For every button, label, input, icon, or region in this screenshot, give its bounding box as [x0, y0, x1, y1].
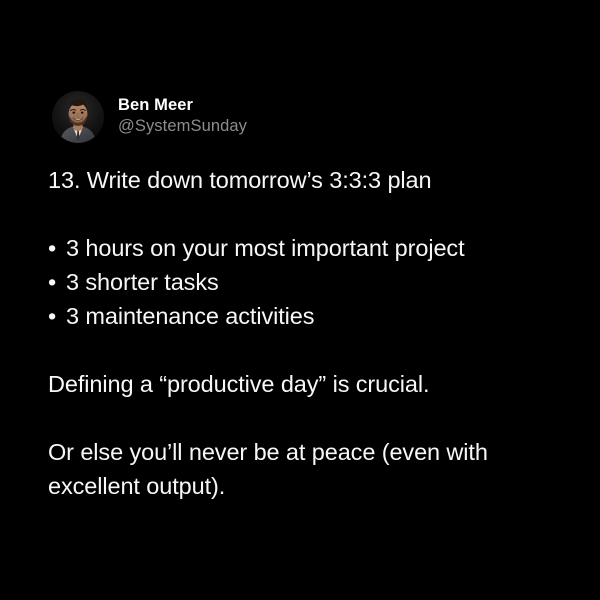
- author-block: Ben Meer @SystemSunday: [118, 97, 247, 137]
- spacer: [48, 401, 568, 435]
- list-item: • 3 hours on your most important project: [48, 231, 568, 265]
- spacer: [48, 333, 568, 367]
- avatar[interactable]: [52, 91, 104, 143]
- list-item-label: 3 shorter tasks: [66, 265, 568, 299]
- tweet-card: Ben Meer @SystemSunday 13. Write down to…: [0, 0, 600, 600]
- tweet-paragraph-2: Or else you’ll never be at peace (even w…: [48, 435, 568, 503]
- bullet-icon: •: [48, 265, 66, 299]
- bullet-icon: •: [48, 299, 66, 333]
- avatar-photo-icon: [52, 91, 104, 143]
- list-item-label: 3 hours on your most important project: [66, 231, 568, 265]
- tweet-header: Ben Meer @SystemSunday: [52, 91, 247, 143]
- bullet-icon: •: [48, 231, 66, 265]
- author-handle[interactable]: @SystemSunday: [118, 118, 247, 136]
- tweet-body: 13. Write down tomorrow’s 3:3:3 plan • 3…: [48, 163, 568, 503]
- tweet-heading: 13. Write down tomorrow’s 3:3:3 plan: [48, 163, 568, 197]
- spacer: [48, 197, 568, 231]
- tweet-paragraph-1: Defining a “productive day” is crucial.: [48, 367, 568, 401]
- author-display-name[interactable]: Ben Meer: [118, 97, 247, 115]
- list-item-label: 3 maintenance activities: [66, 299, 568, 333]
- list-item: • 3 maintenance activities: [48, 299, 568, 333]
- list-item: • 3 shorter tasks: [48, 265, 568, 299]
